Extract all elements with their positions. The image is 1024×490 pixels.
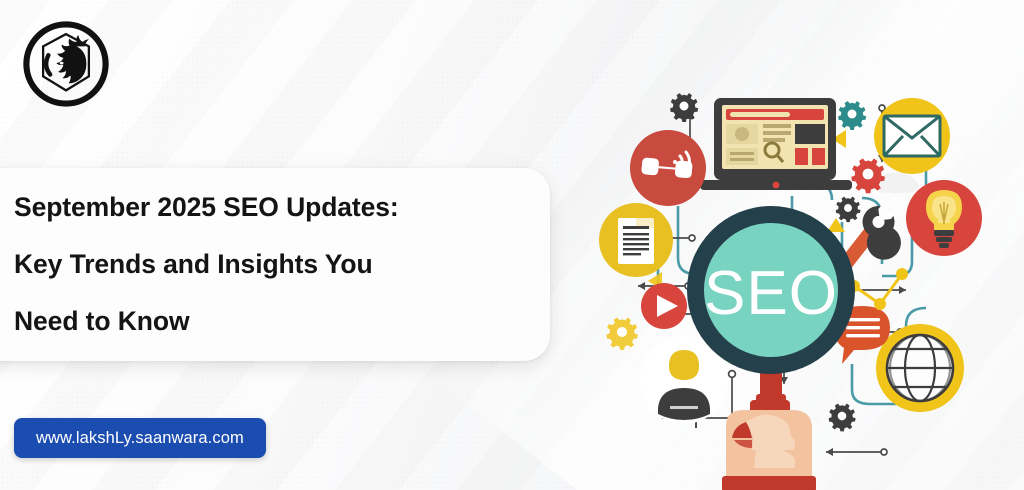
laptop-icon [700, 98, 852, 190]
banner-canvas: September 2025 SEO Updates: Key Trends a… [0, 0, 1024, 490]
magnifier-label: SEO [704, 259, 838, 328]
website-url-badge[interactable]: www.lakshLy.saanwara.com [14, 418, 266, 458]
page-title: September 2025 SEO Updates: Key Trends a… [14, 179, 399, 350]
document-icon [599, 203, 673, 277]
page-title-line-2: Key Trends and Insights You [14, 236, 399, 293]
play-button-icon [641, 283, 687, 329]
website-url-label: www.lakshLy.saanwara.com [36, 429, 244, 448]
hand-grip-icon [722, 400, 816, 490]
page-title-line-3: Need to Know [14, 293, 399, 350]
seo-concept-illustration: SEO [596, 78, 1024, 490]
page-title-line-1: September 2025 SEO Updates: [14, 179, 399, 236]
phone-icon [630, 130, 706, 206]
envelope-icon [874, 98, 950, 174]
title-card: September 2025 SEO Updates: Key Trends a… [0, 168, 550, 361]
lion-circle-logo[interactable] [22, 20, 110, 108]
lightbulb-icon [906, 180, 982, 256]
globe-icon [876, 324, 964, 412]
